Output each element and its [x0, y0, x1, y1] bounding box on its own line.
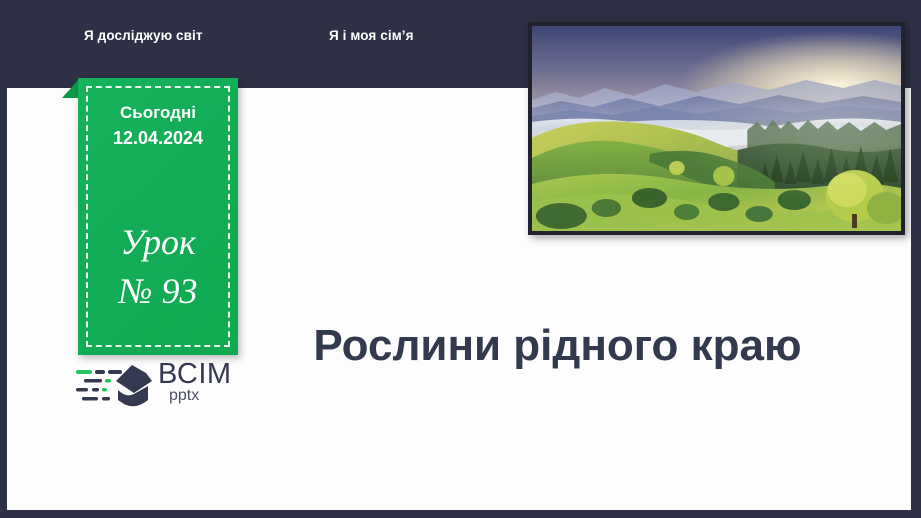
slide-canvas: Я досліджую світ Я і моя сім’я Сьогодні …: [0, 0, 921, 518]
lesson-number: № 93: [78, 267, 238, 316]
lesson-date: 12.04.2024: [78, 128, 238, 149]
logo-subtext: pptx: [169, 388, 199, 404]
header-topic-label: Я і моя сім’я: [329, 28, 414, 43]
page-title: Рослини рідного краю: [285, 318, 830, 374]
landscape-photo-frame: [528, 22, 905, 235]
brand-logo: ВСІМ pptx: [76, 364, 246, 412]
lesson-word: Урок: [120, 222, 196, 262]
lesson-number-block: Урок № 93: [78, 218, 238, 315]
header-subject-label: Я досліджую світ: [84, 28, 203, 43]
lesson-date-card: Сьогодні 12.04.2024 Урок № 93: [78, 78, 238, 355]
today-label: Сьогодні: [78, 100, 238, 126]
logo-wordmark: ВСІМ: [158, 360, 232, 389]
bottom-border-strip: [0, 510, 921, 518]
graduation-cap-icon: [76, 364, 156, 417]
landscape-photo: [532, 26, 901, 231]
left-border-strip: [0, 0, 7, 518]
right-border-strip: [911, 0, 921, 518]
